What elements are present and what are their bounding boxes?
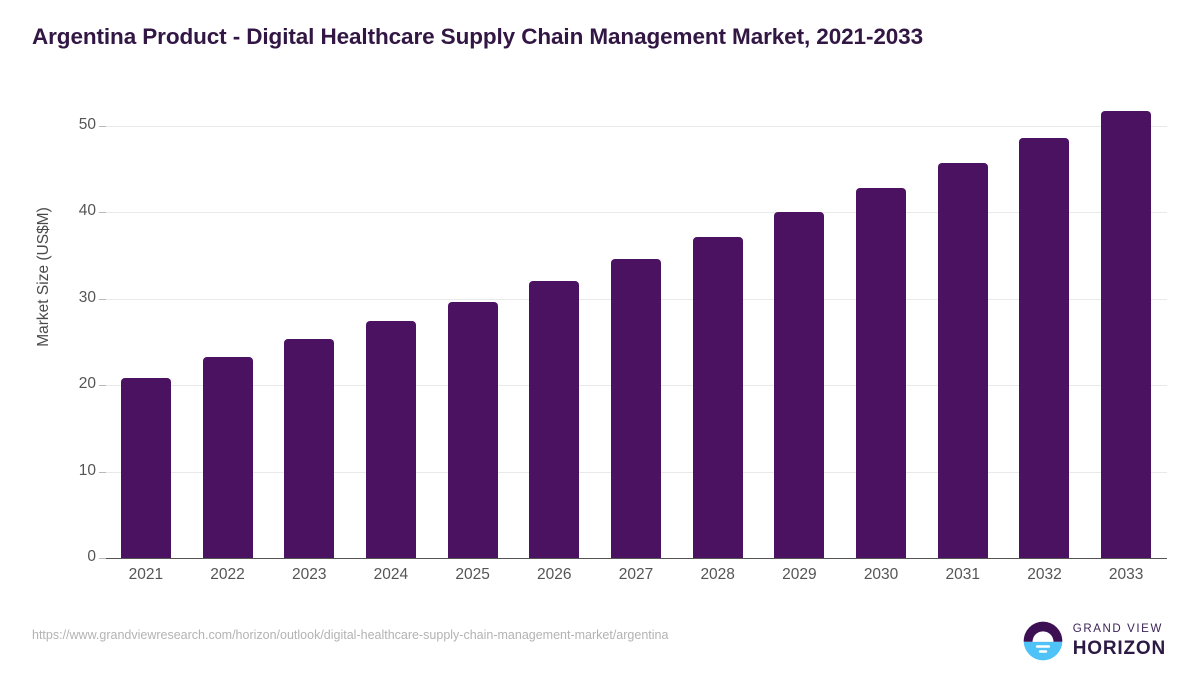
bar-2023[interactable] [284,339,334,558]
grand-view-horizon-logo: GRAND VIEW HORIZON [1022,620,1166,662]
x-axis-tick-label: 2029 [759,566,839,584]
x-axis-tick-label: 2030 [841,566,921,584]
logo-text: GRAND VIEW HORIZON [1073,624,1166,658]
x-axis-tick-label: 2031 [923,566,1003,584]
bar-2029[interactable] [774,212,824,558]
x-axis-tick-label: 2023 [269,566,349,584]
x-axis-tick-label: 2026 [514,566,594,584]
x-axis-tick-label: 2024 [351,566,431,584]
logo-line-1: GRAND VIEW [1073,624,1166,636]
source-url[interactable]: https://www.grandviewresearch.com/horizo… [32,628,668,642]
bar-2031[interactable] [938,163,988,558]
x-axis-tick-label: 2032 [1004,566,1084,584]
chart-plot-area: Market Size (US$M) 01020304050 202120222… [0,0,1200,675]
x-axis-tick-label: 2027 [596,566,676,584]
logo-line-2: HORIZON [1073,639,1166,658]
bar-2027[interactable] [611,259,661,558]
bar-2021[interactable] [121,378,171,558]
bar-2026[interactable] [529,281,579,558]
bar-2024[interactable] [366,321,416,558]
bar-2032[interactable] [1019,138,1069,558]
bar-2025[interactable] [448,302,498,558]
x-axis-tick-label: 2033 [1086,566,1166,584]
x-axis-tick-label: 2025 [433,566,513,584]
bar-2022[interactable] [203,357,253,558]
horizon-circle-icon [1022,620,1064,662]
x-axis-tick-label: 2028 [678,566,758,584]
bar-2033[interactable] [1101,111,1151,558]
bar-2030[interactable] [856,188,906,558]
chart-page: Argentina Product - Digital Healthcare S… [0,0,1200,675]
x-axis-tick-label: 2021 [106,566,186,584]
x-axis-tick-label: 2022 [188,566,268,584]
bar-2028[interactable] [693,237,743,558]
